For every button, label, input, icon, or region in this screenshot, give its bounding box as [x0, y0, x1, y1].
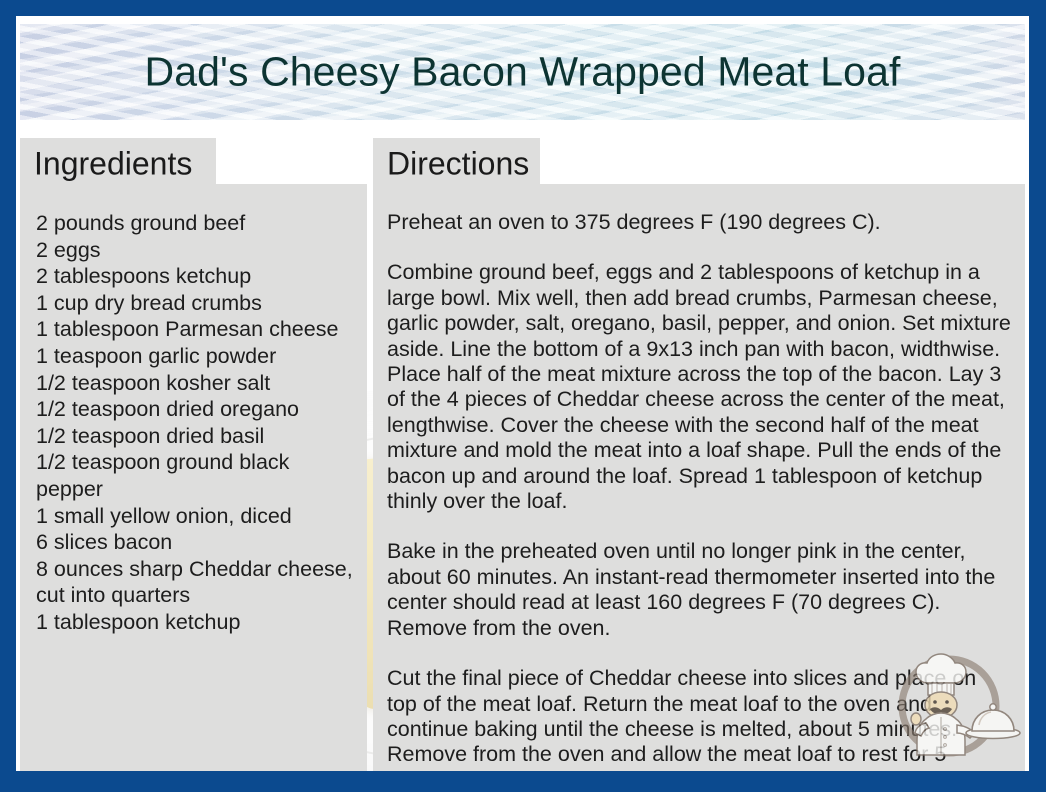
list-item: 2 tablespoons ketchup — [36, 263, 357, 290]
list-item: 1/2 teaspoon ground black pepper — [36, 449, 357, 502]
list-item: 1 small yellow onion, diced — [36, 503, 357, 530]
direction-step: Cut the final piece of Cheddar cheese in… — [387, 666, 1011, 771]
list-item: 1 tablespoon ketchup — [36, 609, 357, 636]
list-item: 6 slices bacon — [36, 529, 357, 556]
list-item: 1/2 teaspoon dried oregano — [36, 396, 357, 423]
directions-panel: Preheat an oven to 375 degrees F (190 de… — [373, 184, 1025, 771]
list-item: 1 teaspoon garlic powder — [36, 343, 357, 370]
direction-step: Combine ground beef, eggs and 2 tablespo… — [387, 260, 1011, 514]
recipe-card: Dad's Cheesy Bacon Wrapped Meat Loaf Ing… — [0, 0, 1046, 792]
list-item: 1/2 teaspoon dried basil — [36, 423, 357, 450]
ingredients-panel: 2 pounds ground beef 2 eggs 2 tablespoon… — [20, 184, 367, 771]
bottom-border-strip — [0, 771, 1046, 792]
list-item: 1/2 teaspoon kosher salt — [36, 370, 357, 397]
direction-step: Bake in the preheated oven until no long… — [387, 539, 1011, 641]
list-item: 1 cup dry bread crumbs — [36, 290, 357, 317]
ingredients-list: 2 pounds ground beef 2 eggs 2 tablespoon… — [20, 184, 367, 636]
list-item: 2 pounds ground beef — [36, 210, 357, 237]
title-banner: Dad's Cheesy Bacon Wrapped Meat Loaf — [20, 24, 1025, 120]
list-item: 2 eggs — [36, 237, 357, 264]
page-title: Dad's Cheesy Bacon Wrapped Meat Loaf — [20, 49, 1025, 96]
list-item: 8 ounces sharp Cheddar cheese, cut into … — [36, 556, 357, 609]
ingredients-header: Ingredients — [20, 138, 216, 190]
directions-steps: Preheat an oven to 375 degrees F (190 de… — [373, 184, 1025, 771]
recipe-card-inner: Dad's Cheesy Bacon Wrapped Meat Loaf Ing… — [16, 16, 1029, 771]
list-item: 1 tablespoon Parmesan cheese — [36, 316, 357, 343]
directions-header: Directions — [373, 138, 540, 190]
ingredients-heading-label: Ingredients — [34, 146, 192, 183]
direction-step: Preheat an oven to 375 degrees F (190 de… — [387, 210, 1011, 235]
directions-heading-label: Directions — [387, 146, 529, 183]
